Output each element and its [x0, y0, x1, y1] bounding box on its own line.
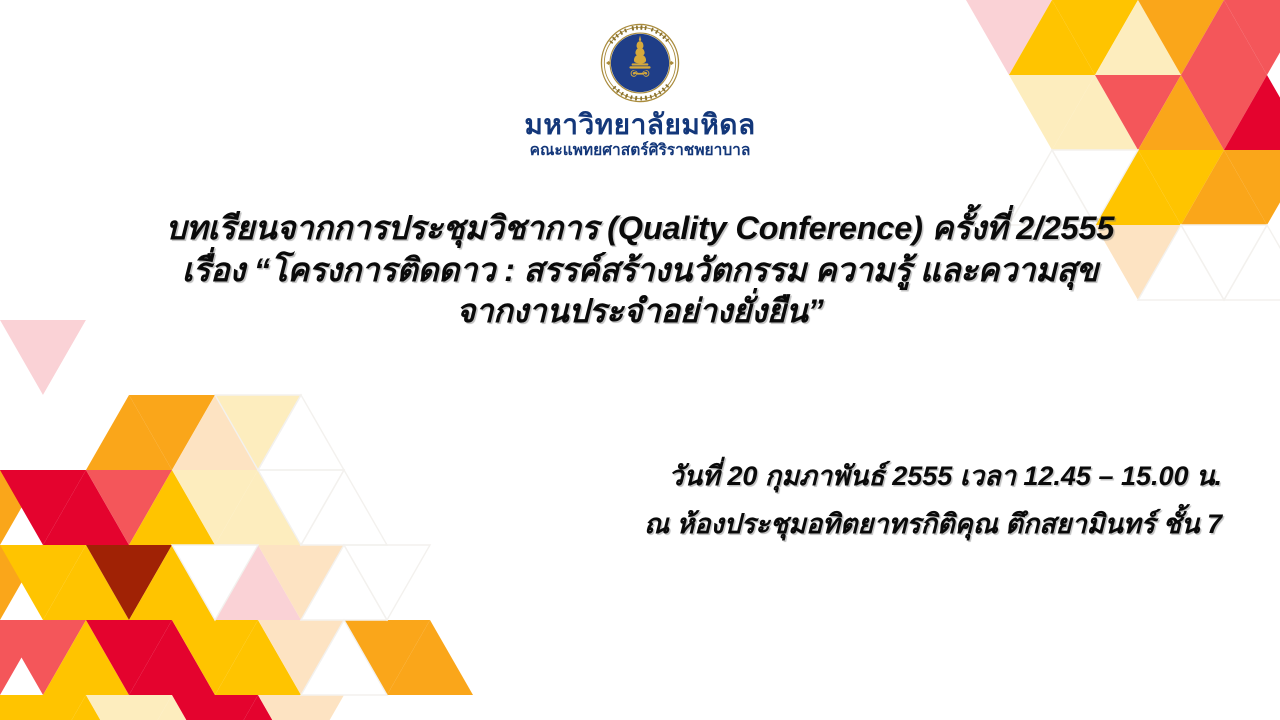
university-name: มหาวิทยาลัยมหิดล — [524, 110, 755, 141]
triangle-pattern-bottom-left-svg — [0, 320, 480, 720]
event-datetime: วันที่ 20 กุมภาพันธ์ 2555 เวลา 12.45 – 1… — [644, 452, 1222, 500]
faculty-name: คณะแพทยศาสตร์ศิริราชพยาบาล — [530, 142, 751, 160]
slide-title-block: บทเรียนจากการประชุมวิชาการ (Quality Conf… — [40, 208, 1240, 333]
event-venue: ณ ห้องประชุมอทิตยาทรกิติคุณ ตึกสยามินทร์… — [644, 500, 1222, 548]
slide-title-line-1: บทเรียนจากการประชุมวิชาการ (Quality Conf… — [40, 208, 1240, 250]
presentation-slide: มหาวิทยาลัยมหิดล คณะแพทยศาสตร์ศิริราชพยา… — [0, 0, 1280, 720]
mahidol-university-seal-icon — [599, 22, 681, 104]
slide-title-line-2: เรื่อง “โครงการติดดาว : สรรค์สร้างนวัตกร… — [40, 250, 1240, 292]
event-details-block: วันที่ 20 กุมภาพันธ์ 2555 เวลา 12.45 – 1… — [644, 452, 1222, 548]
slide-title-line-3: จากงานประจำอย่างยั่งยืน” — [40, 291, 1240, 333]
institution-logo-block: มหาวิทยาลัยมหิดล คณะแพทยศาสตร์ศิริราชพยา… — [0, 22, 1280, 160]
triangle-pattern-bottom-left — [0, 320, 480, 720]
